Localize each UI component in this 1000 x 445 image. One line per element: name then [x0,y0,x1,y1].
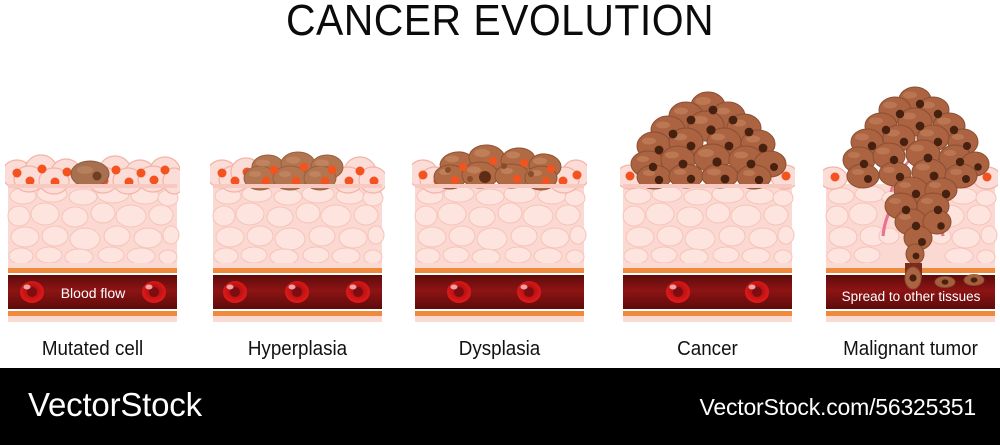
stage-illustration-hyperplasia [210,86,385,336]
vectorstock-logo: VectorStock [28,386,202,424]
stage-mutated-cell[interactable]: Blood flow Mutated cell [5,86,180,336]
blood-vessel [415,263,584,322]
epithelium-layer [210,152,385,193]
stage-illustration-mutated-cell: Blood flow [5,86,180,336]
stroma-layer [623,184,794,265]
stroma-layer [213,184,384,265]
epithelium-layer [412,144,587,193]
stage-malignant-tumor[interactable]: Spread to other tissues Malignant tumor [823,86,998,336]
page-title: CANCER EVOLUTION [35,0,965,46]
epithelium-layer [620,92,795,189]
watermark-bar: VectorStock VectorStock.com/56325351 [0,368,1000,445]
vessel-caption: Spread to other tissues [842,289,981,304]
stage-illustration-dysplasia [412,86,587,336]
tumor-mound [631,92,786,189]
stage-cancer[interactable]: Cancer [620,86,795,336]
dysplasia-cells [434,144,562,190]
stage-illustration-malignant-tumor: Spread to other tissues [823,86,998,336]
blood-vessel [623,263,792,322]
stage-label-mutated-cell: Mutated cell [0,338,188,361]
stage-illustration-cancer [620,86,795,336]
tumor-invasion-channel [905,263,922,289]
stroma-layer [8,184,179,265]
stage-label-dysplasia: Dysplasia [404,338,595,361]
blood-vessel: Blood flow [8,263,177,322]
epithelium-layer [5,155,180,194]
vectorstock-url: VectorStock.com/56325351 [700,394,977,421]
stroma-layer [415,184,586,265]
poster-canvas: CANCER EVOLUTION [0,0,1000,445]
vessel-caption: Blood flow [61,285,126,301]
stage-sequence: Blood flow Mutated cell [0,86,1000,336]
mutated-cell-marker [71,161,109,187]
blood-vessel: Spread to other tissues [826,263,995,322]
blood-vessel [213,263,382,322]
stage-label-cancer: Cancer [612,338,803,361]
stage-dysplasia[interactable]: Dysplasia [412,86,587,336]
stage-label-hyperplasia: Hyperplasia [202,338,393,361]
stage-hyperplasia[interactable]: Hyperplasia [210,86,385,336]
stage-label-malignant-tumor: Malignant tumor [815,338,1000,361]
